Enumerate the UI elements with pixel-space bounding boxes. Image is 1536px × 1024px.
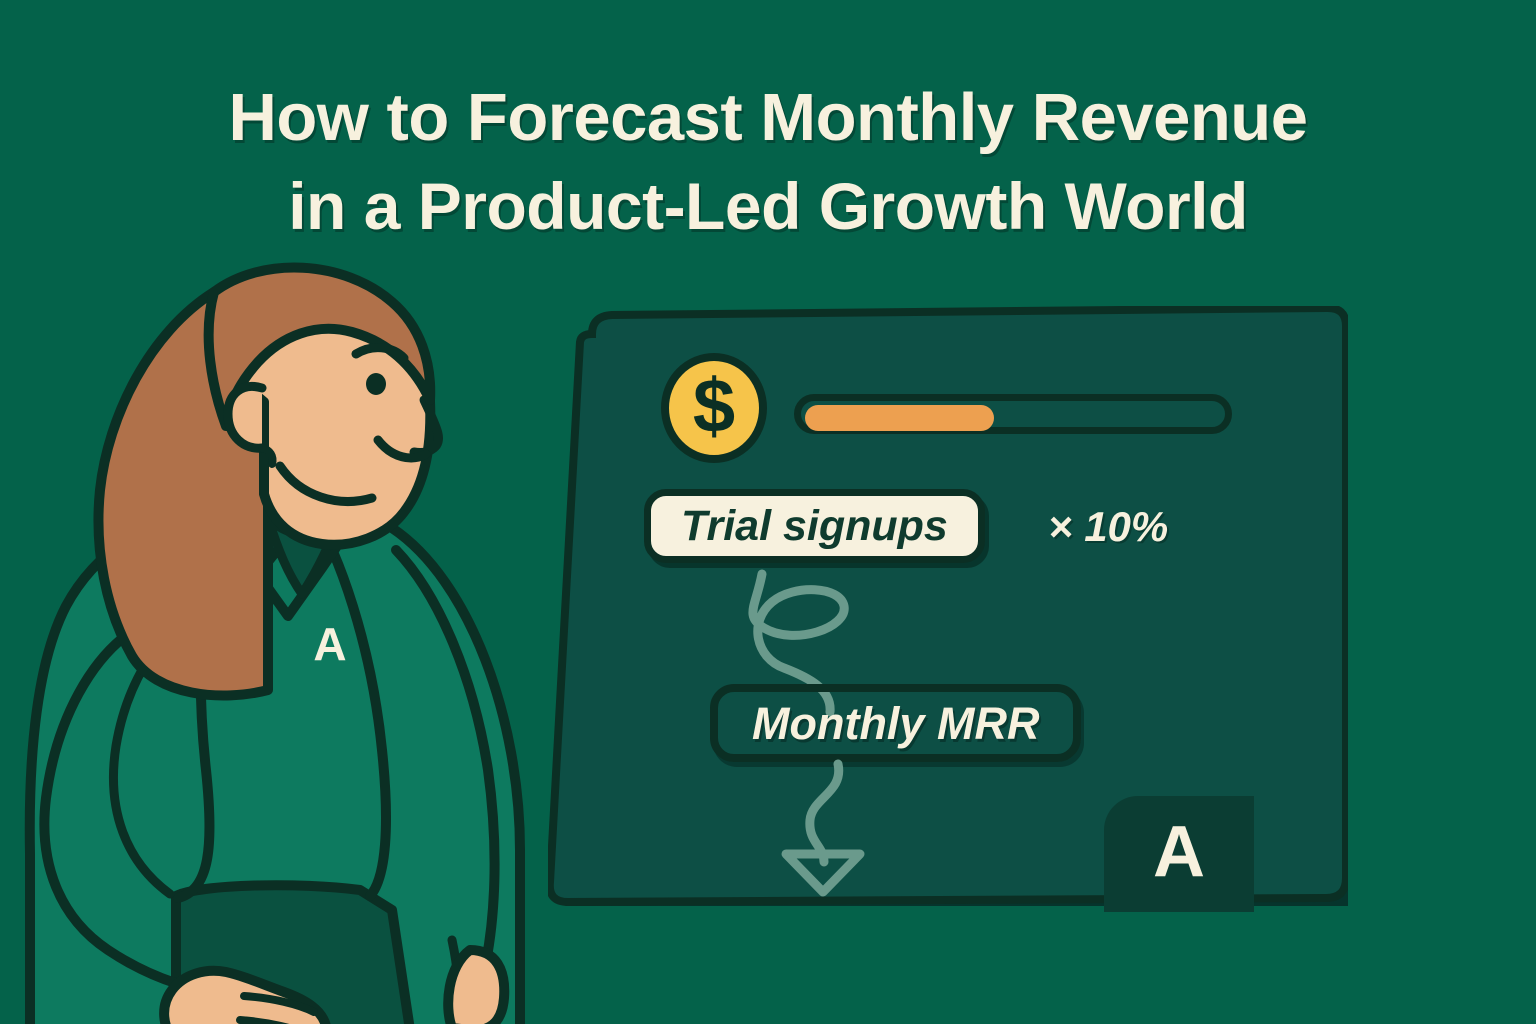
pill-monthly-mrr[interactable]: Monthly MRR: [710, 684, 1081, 762]
lapel-pin-letter: A: [313, 618, 346, 670]
card-logo-letter: A: [1153, 816, 1205, 888]
pill-monthly-mrr-label: Monthly MRR: [752, 701, 1039, 746]
dollar-coin-icon: $: [658, 352, 770, 464]
page-title: How to Forecast Monthly Revenue in a Pro…: [0, 74, 1536, 250]
forecast-card: $ Trial signups × 10% Monthly MRR: [548, 306, 1348, 906]
pill-trial-signups[interactable]: Trial signups: [644, 489, 985, 563]
multiplier-label: × 10%: [1048, 506, 1168, 548]
svg-text:$: $: [693, 364, 735, 449]
card-logo-badge: A: [1104, 796, 1254, 912]
pill-trial-signups-label: Trial signups: [681, 505, 948, 548]
poster-canvas: How to Forecast Monthly Revenue in a Pro…: [0, 0, 1536, 1024]
illustrated-woman-presenter: A: [0, 250, 640, 1024]
title-line-2: in a Product-Led Growth World: [0, 162, 1536, 250]
revenue-progress-bar[interactable]: [794, 394, 1232, 434]
revenue-progress-fill: [805, 405, 994, 431]
card-content: $ Trial signups × 10% Monthly MRR: [548, 306, 1348, 906]
title-line-1: How to Forecast Monthly Revenue: [0, 74, 1536, 162]
